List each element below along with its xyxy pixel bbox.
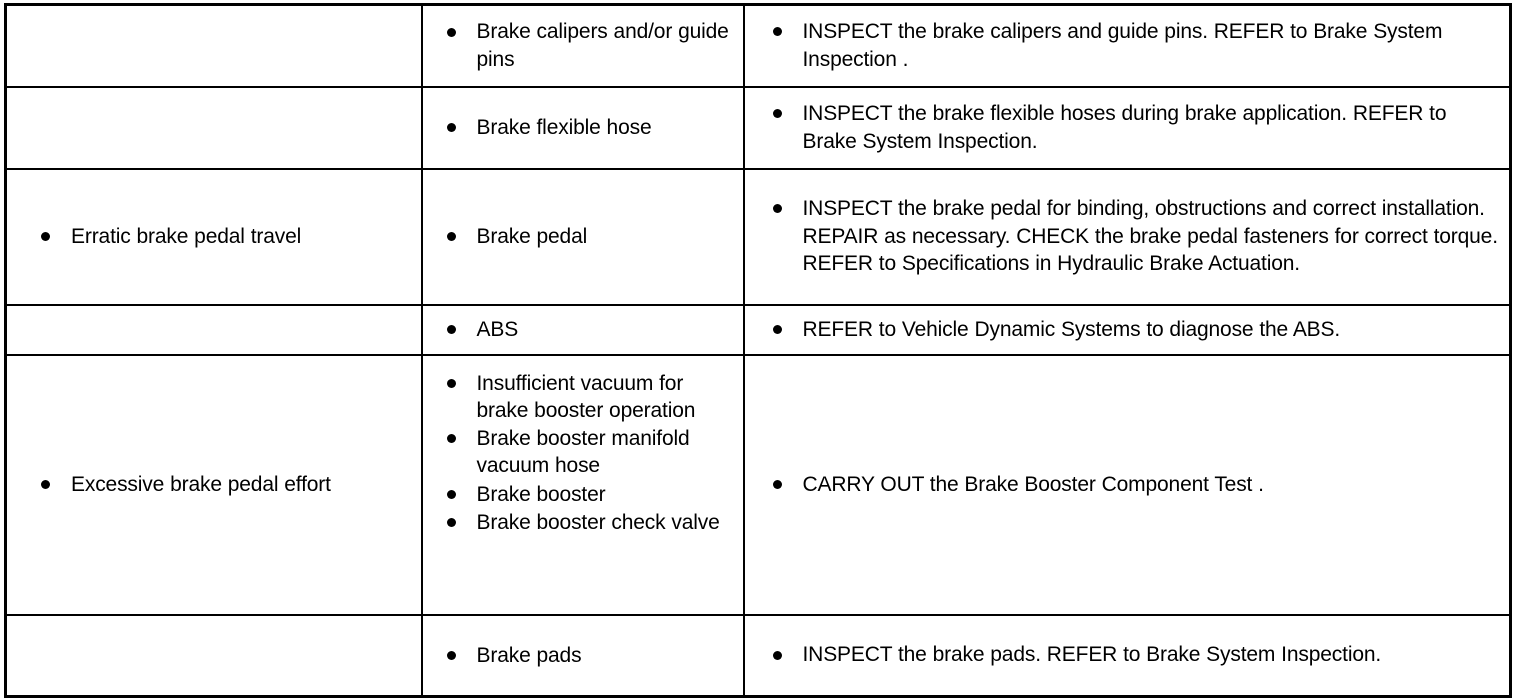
action-list: REFER to Vehicle Dynamic Systems to diag… — [745, 310, 1510, 350]
symptom-cell — [6, 615, 422, 697]
list-item: Erratic brake pedal travel — [37, 223, 413, 250]
source-list: Brake pads — [423, 636, 743, 675]
list-item: INSPECT the brake pads. REFER to Brake S… — [769, 641, 1500, 669]
source-cell: Insufficient vacuum for brake booster op… — [422, 355, 744, 615]
action-cell: CARRY OUT the Brake Booster Component Te… — [744, 355, 1511, 615]
source-list: Insufficient vacuum for brake booster op… — [423, 356, 743, 543]
source-cell: Brake flexible hose — [422, 87, 744, 169]
symptom-chart-container: Brake calipers and/or guide pins INSPECT… — [0, 0, 1520, 698]
table-row: Brake calipers and/or guide pins INSPECT… — [6, 5, 1511, 87]
action-list: CARRY OUT the Brake Booster Component Te… — [745, 465, 1510, 505]
list-item: Brake pads — [443, 642, 735, 669]
source-cell: Brake calipers and/or guide pins — [422, 5, 744, 87]
source-list: ABS — [423, 310, 743, 349]
table-row: ABS REFER to Vehicle Dynamic Systems to … — [6, 305, 1511, 355]
list-item: REFER to Vehicle Dynamic Systems to diag… — [769, 316, 1500, 344]
list-item: Insufficient vacuum for brake booster op… — [443, 370, 735, 425]
list-item: ABS — [443, 316, 735, 343]
source-cell: ABS — [422, 305, 744, 355]
action-list: INSPECT the brake flexible hoses during … — [745, 94, 1510, 162]
symptom-list: Excessive brake pedal effort — [7, 465, 421, 504]
source-list: Brake calipers and/or guide pins — [423, 12, 743, 79]
symptom-cell — [6, 87, 422, 169]
table-row: Brake flexible hose INSPECT the brake fl… — [6, 87, 1511, 169]
list-item: Brake calipers and/or guide pins — [443, 18, 735, 73]
table-row: Excessive brake pedal effort Insufficien… — [6, 355, 1511, 615]
list-item: Brake pedal — [443, 223, 735, 250]
source-list: Brake flexible hose — [423, 108, 743, 147]
source-cell: Brake pedal — [422, 169, 744, 305]
action-list: INSPECT the brake pedal for binding, obs… — [745, 189, 1510, 285]
list-item: CARRY OUT the Brake Booster Component Te… — [769, 471, 1500, 499]
list-item: Brake booster manifold vacuum hose — [443, 425, 735, 480]
symptom-cell: Excessive brake pedal effort — [6, 355, 422, 615]
list-item: Brake booster check valve — [443, 509, 735, 536]
table-row: Erratic brake pedal travel Brake pedal I… — [6, 169, 1511, 305]
action-cell: REFER to Vehicle Dynamic Systems to diag… — [744, 305, 1511, 355]
list-item: INSPECT the brake calipers and guide pin… — [769, 18, 1500, 74]
list-item: Brake flexible hose — [443, 114, 735, 141]
action-cell: INSPECT the brake calipers and guide pin… — [744, 5, 1511, 87]
action-list: INSPECT the brake calipers and guide pin… — [745, 12, 1510, 80]
source-list: Brake pedal — [423, 217, 743, 256]
symptom-cell — [6, 5, 422, 87]
symptom-chart-body: Brake calipers and/or guide pins INSPECT… — [6, 5, 1511, 697]
symptom-list: Erratic brake pedal travel — [7, 217, 421, 256]
symptom-chart-table: Brake calipers and/or guide pins INSPECT… — [4, 3, 1512, 698]
list-item: INSPECT the brake flexible hoses during … — [769, 100, 1500, 156]
action-cell: INSPECT the brake pedal for binding, obs… — [744, 169, 1511, 305]
list-item: Excessive brake pedal effort — [37, 471, 413, 498]
table-row: Brake pads INSPECT the brake pads. REFER… — [6, 615, 1511, 697]
action-cell: INSPECT the brake flexible hoses during … — [744, 87, 1511, 169]
list-item: INSPECT the brake pedal for binding, obs… — [769, 195, 1500, 279]
source-cell: Brake pads — [422, 615, 744, 697]
action-cell: INSPECT the brake pads. REFER to Brake S… — [744, 615, 1511, 697]
action-list: INSPECT the brake pads. REFER to Brake S… — [745, 635, 1510, 675]
symptom-cell: Erratic brake pedal travel — [6, 169, 422, 305]
list-item: Brake booster — [443, 481, 735, 508]
symptom-cell — [6, 305, 422, 355]
